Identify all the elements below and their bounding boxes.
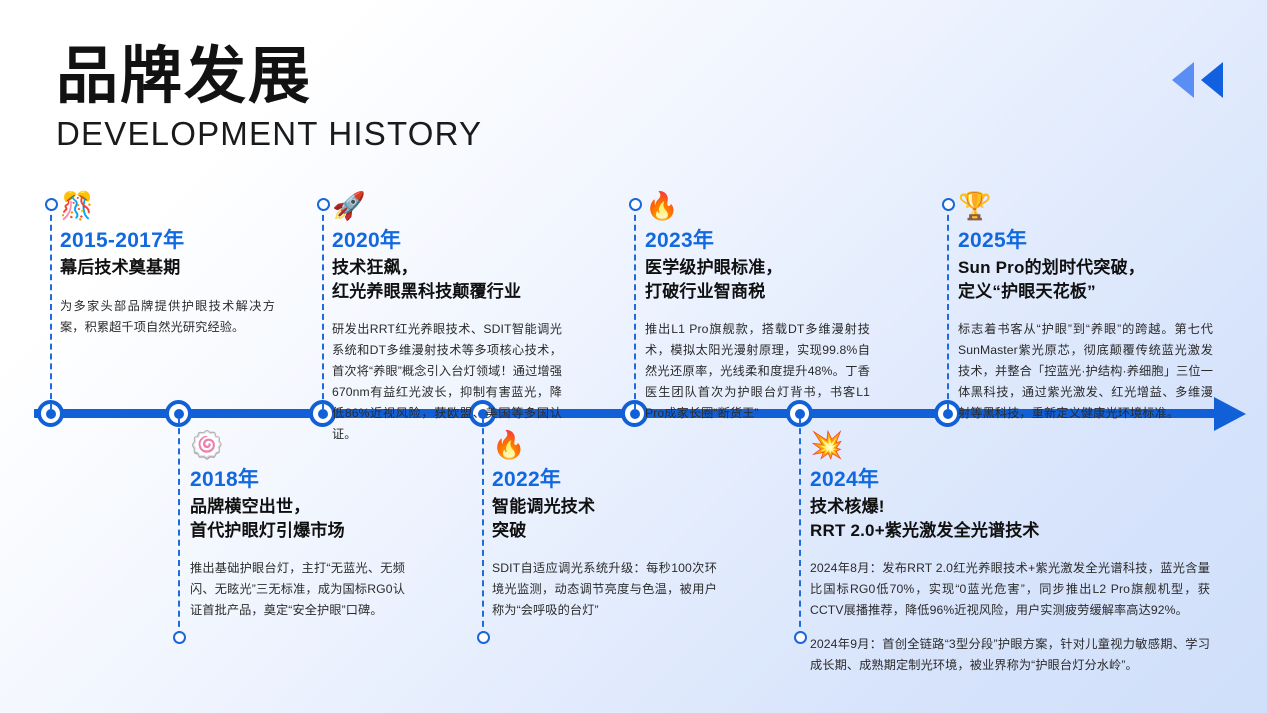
connector-endpoint-2015-2017 [45, 198, 58, 211]
entry-heading-2015-2017: 幕后技术奠基期 [60, 256, 275, 279]
rocket-icon: 🚀 [332, 193, 562, 223]
timeline-entry-2022[interactable]: 🔥2022年智能调光技术突破SDIT自适应调光系统升级：每秒100次环境光监测，… [492, 432, 717, 621]
timeline-connector-2020 [322, 205, 324, 409]
entry-year-2024: 2024年 [810, 467, 1210, 493]
entry-paragraph-2020-1: 研发出RRT红光养眼技术、SDIT智能调光系统和DT多维漫射技术等多项核心技术，… [332, 319, 562, 445]
entry-paragraph-2024-2: 2024年9月：首创全链路“3型分段”护眼方案，针对儿童视力敏感期、学习成长期、… [810, 634, 1210, 676]
timeline-entry-2024[interactable]: 💥2024年技术核爆!RRT 2.0+紫光激发全光谱技术2024年8月：发布RR… [810, 432, 1210, 676]
timeline-entry-2020[interactable]: 🚀2020年技术狂飙，红光养眼黑科技颠覆行业研发出RRT红光养眼技术、SDIT智… [332, 193, 562, 445]
entry-paragraph-2024-1: 2024年8月：发布RRT 2.0红光养眼技术+紫光激发全光谱科技，蓝光含量比国… [810, 558, 1210, 621]
timeline-connector-2024 [799, 418, 801, 637]
entry-paragraph-2015-2017-1: 为多家头部品牌提供护眼技术解决方案，积累超千项自然光研究经验。 [60, 296, 275, 338]
connector-endpoint-2025 [942, 198, 955, 211]
timeline-arrow-icon [1214, 397, 1246, 431]
confetti-icon: 🎊 [60, 193, 275, 223]
connector-endpoint-2024 [794, 631, 807, 644]
entry-heading-2024: 技术核爆!RRT 2.0+紫光激发全光谱技术 [810, 495, 1210, 542]
entry-year-2025: 2025年 [958, 228, 1213, 254]
page-header: 品牌发展 DEVELOPMENT HISTORY [56, 44, 616, 153]
page-title-en: DEVELOPMENT HISTORY [56, 115, 616, 153]
fire-icon: 🔥 [492, 432, 717, 462]
connector-endpoint-2018 [173, 631, 186, 644]
entry-paragraph-2025-1: 标志着书客从“护眼”到“养眼”的跨越。第七代SunMaster紫光原芯，彻底颠覆… [958, 319, 1213, 424]
entry-heading-2022: 智能调光技术突破 [492, 495, 717, 542]
entry-heading-2023: 医学级护眼标准，打破行业智商税 [645, 256, 870, 303]
corner-chevron-decoration [1172, 62, 1223, 98]
chevron-left-dark-icon [1201, 62, 1223, 98]
entry-paragraph-2023-1: 推出L1 Pro旗舰款，搭载DT多维漫射技术，模拟太阳光漫射原理，实现99.8%… [645, 319, 870, 424]
entry-paragraph-2018-1: 推出基础护眼台灯，主打“无蓝光、无频闪、无眩光”三无标准，成为国标RG0认证首批… [190, 558, 405, 621]
timeline-entry-2025[interactable]: 🏆2025年Sun Pro的划时代突破，定义“护眼天花板”标志着书客从“护眼”到… [958, 193, 1213, 424]
entry-year-2022: 2022年 [492, 467, 717, 493]
timeline-connector-2015-2017 [50, 205, 52, 409]
fire-icon: 🔥 [645, 193, 870, 223]
timeline-connector-2023 [634, 205, 636, 409]
connector-endpoint-2023 [629, 198, 642, 211]
entry-year-2020: 2020年 [332, 228, 562, 254]
timeline-connector-2025 [947, 205, 949, 409]
timeline-connector-2022 [482, 418, 484, 637]
trophy-icon: 🏆 [958, 193, 1213, 223]
entry-heading-2018: 品牌横空出世，首代护眼灯引爆市场 [190, 495, 405, 542]
explosion-icon: 💥 [810, 432, 1210, 462]
slide-root: 品牌发展 DEVELOPMENT HISTORY 🎊2015-2017年幕后技术… [0, 0, 1267, 713]
chevron-left-light-icon [1172, 62, 1194, 98]
timeline-connector-2018 [178, 418, 180, 637]
timeline-entry-2023[interactable]: 🔥2023年医学级护眼标准，打破行业智商税推出L1 Pro旗舰款，搭载DT多维漫… [645, 193, 870, 424]
entry-heading-2020: 技术狂飙，红光养眼黑科技颠覆行业 [332, 256, 562, 303]
entry-year-2023: 2023年 [645, 228, 870, 254]
entry-heading-2025: Sun Pro的划时代突破，定义“护眼天花板” [958, 256, 1213, 303]
timeline-entry-2015-2017[interactable]: 🎊2015-2017年幕后技术奠基期为多家头部品牌提供护眼技术解决方案，积累超千… [60, 193, 275, 338]
connector-endpoint-2022 [477, 631, 490, 644]
entry-year-2018: 2018年 [190, 467, 405, 493]
entry-paragraph-2022-1: SDIT自适应调光系统升级：每秒100次环境光监测，动态调节亮度与色温，被用户称… [492, 558, 717, 621]
timeline-entry-2018[interactable]: 🍥2018年品牌横空出世，首代护眼灯引爆市场推出基础护眼台灯，主打“无蓝光、无频… [190, 432, 405, 621]
entry-year-2015-2017: 2015-2017年 [60, 228, 275, 254]
connector-endpoint-2020 [317, 198, 330, 211]
page-title-cn: 品牌发展 [56, 44, 616, 109]
